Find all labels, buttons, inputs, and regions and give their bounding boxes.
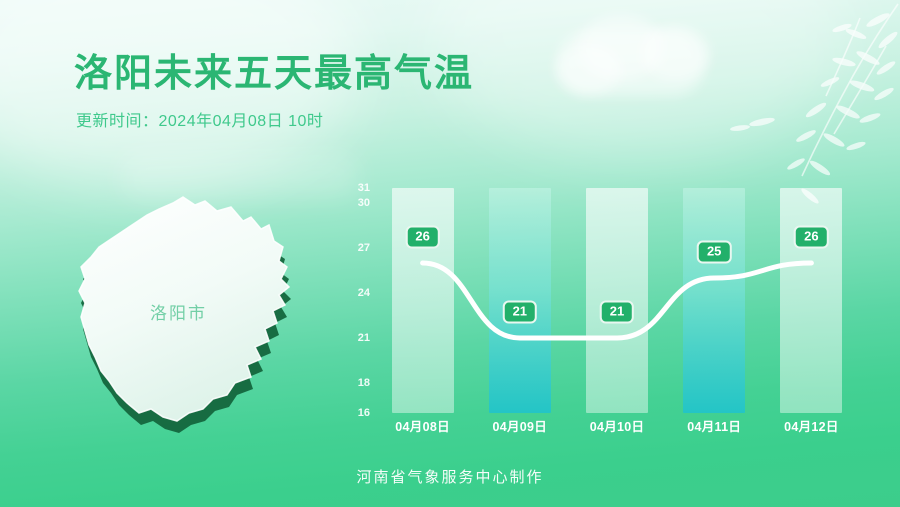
y-axis-tick: 27 <box>342 242 370 254</box>
page-title: 洛阳未来五天最高气温 <box>74 42 474 97</box>
cloud-shape <box>640 26 710 80</box>
footer-credit: 河南省气象服务中心制作 <box>0 466 900 487</box>
y-axis: 31302724211816 <box>340 188 370 413</box>
cloud-shape <box>556 44 622 94</box>
y-axis-tick: 18 <box>342 377 370 389</box>
data-point-label: 21 <box>600 301 634 324</box>
x-axis-tick: 04月08日 <box>374 416 471 435</box>
y-axis-tick: 30 <box>342 197 370 209</box>
x-axis: 04月08日04月09日04月10日04月11日04月12日 <box>374 416 860 435</box>
x-axis-tick: 04月12日 <box>763 416 860 435</box>
chart-plot-area: 2621212526 <box>374 188 860 413</box>
x-axis-tick: 04月09日 <box>471 416 568 435</box>
data-point-label: 26 <box>405 226 439 249</box>
cloud-shape <box>120 150 360 200</box>
willow-branch-icon <box>710 0 900 210</box>
y-axis-tick: 16 <box>342 407 370 419</box>
x-axis-tick: 04月11日 <box>666 416 763 435</box>
y-axis-tick: 21 <box>342 332 370 344</box>
infographic-canvas: 洛阳未来五天最高气温 更新时间：2024年04月08日 10时 洛阳市 3130… <box>0 0 900 507</box>
temperature-chart: 31302724211816 2621212526 04月08日04月09日04… <box>340 188 860 423</box>
data-point-label: 26 <box>794 226 828 249</box>
data-point-label: 21 <box>503 301 537 324</box>
y-axis-tick: 31 <box>342 182 370 194</box>
data-point-label: 25 <box>697 241 731 264</box>
y-axis-tick: 24 <box>342 287 370 299</box>
x-axis-tick: 04月10日 <box>568 416 665 435</box>
map-region-label: 洛阳市 <box>150 299 207 324</box>
update-time-text: 更新时间：2024年04月08日 10时 <box>76 107 323 131</box>
